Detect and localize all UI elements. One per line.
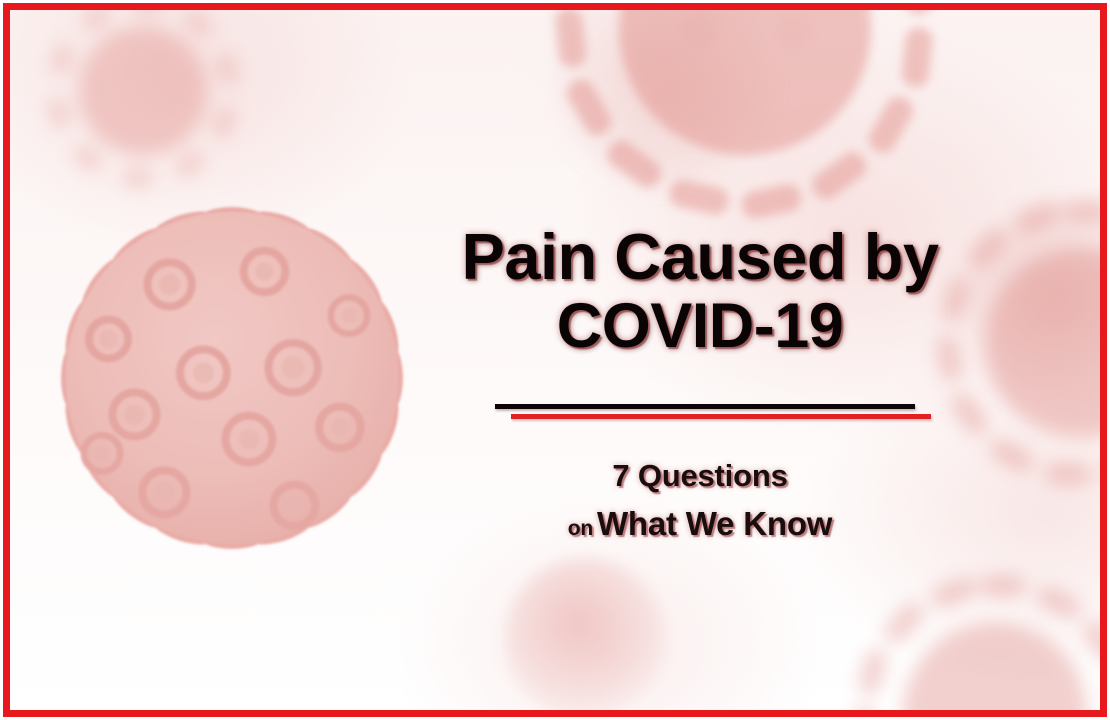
slide-red-frame: Pain Caused by COVID-19 7 Questions onWh… <box>3 3 1107 717</box>
title-divider-black-rule <box>495 404 915 409</box>
subtitle-prefix: on <box>568 517 593 540</box>
title-divider <box>495 404 935 422</box>
subtitle-line-1: 7 Questions <box>390 458 1010 494</box>
title-line-1: Pain Caused by <box>390 222 1010 292</box>
page-title: Pain Caused by COVID-19 <box>390 222 1010 360</box>
page-subtitle: 7 Questions onWhat We Know <box>390 458 1010 543</box>
subtitle-line-2: onWhat We Know <box>390 505 1010 543</box>
subtitle-emphasis: What We Know <box>597 505 832 542</box>
slide-text-block: Pain Caused by COVID-19 7 Questions onWh… <box>390 10 1010 710</box>
slide-canvas: Pain Caused by COVID-19 7 Questions onWh… <box>0 0 1110 720</box>
title-divider-red-rule <box>511 414 931 419</box>
title-line-2: COVID-19 <box>390 292 1010 360</box>
